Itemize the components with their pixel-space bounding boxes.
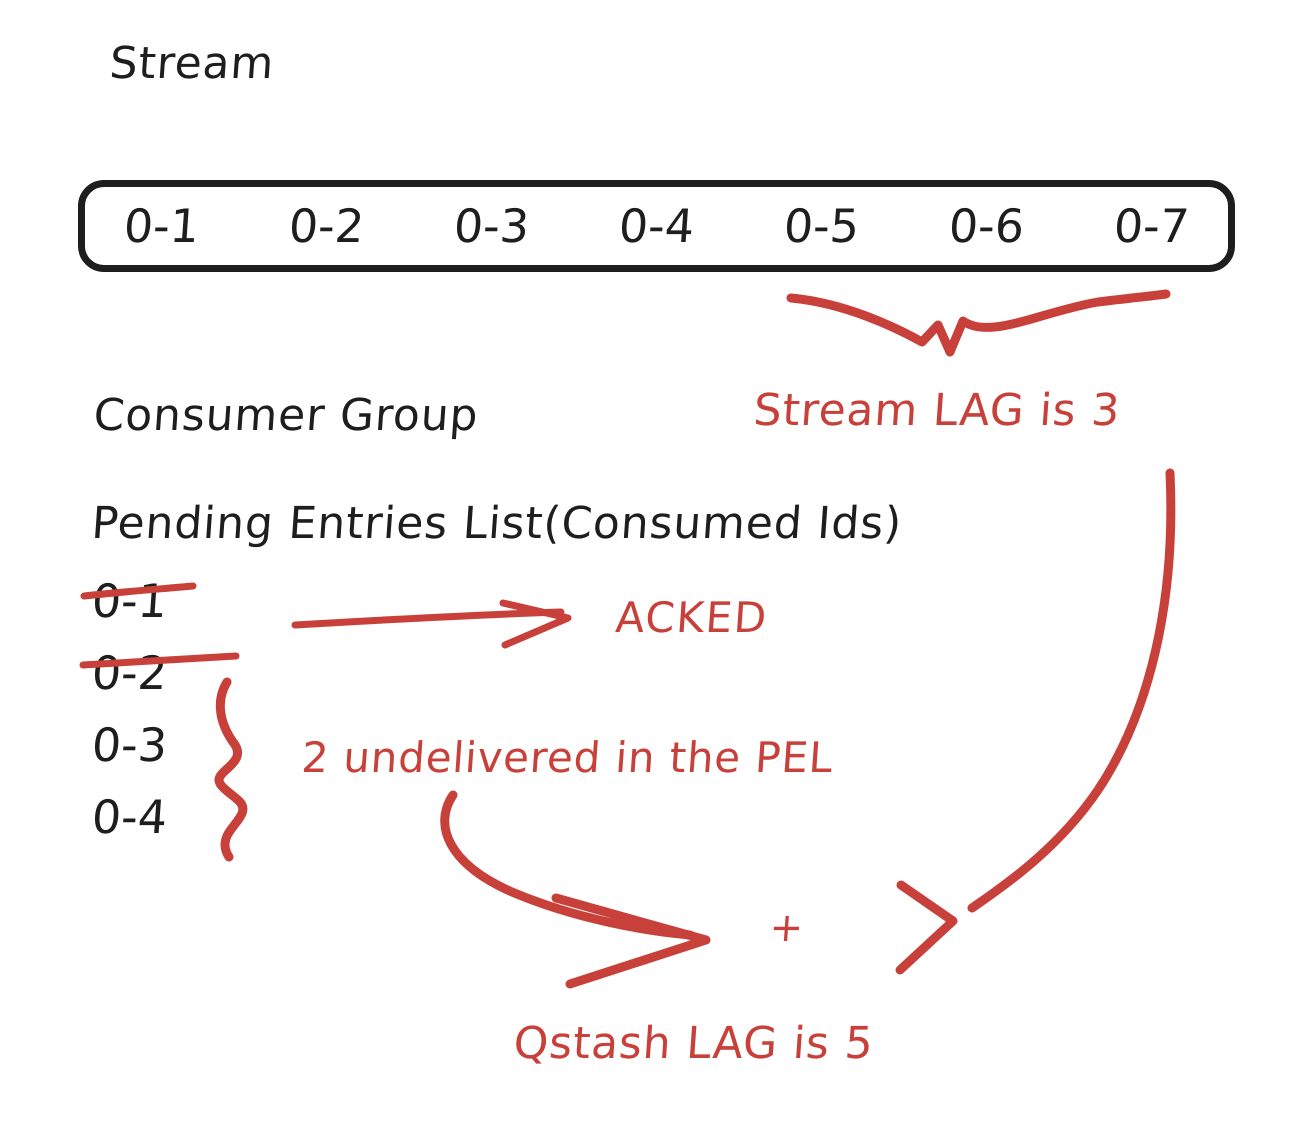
stream-entry-0-3: 0-3 xyxy=(452,199,531,253)
acked-annotation: ACKED xyxy=(614,593,770,642)
stream-lag-brace-icon xyxy=(791,294,1166,352)
stream-entries-row: 0-10-20-30-40-50-60-7 xyxy=(78,180,1235,272)
diagram-canvas: Stream 0-10-20-30-40-50-60-7 Consumer Gr… xyxy=(0,0,1294,1142)
stream-entry-0-6: 0-6 xyxy=(947,199,1026,253)
pel-entry-0-2-acked: 0-2 xyxy=(89,637,214,709)
pel-to-plus-arrowhead-icon xyxy=(556,898,706,984)
pel-entry-0-3-pending: 0-3 xyxy=(89,709,214,781)
stream-entry-0-5: 0-5 xyxy=(782,199,861,253)
stream-entry-0-1: 0-1 xyxy=(122,199,201,253)
pel-to-plus-arrow-icon xyxy=(445,795,690,935)
stream-lag-to-plus-arrow-icon xyxy=(972,473,1171,908)
stream-label: Stream xyxy=(108,38,276,89)
stream-lag-annotation: Stream LAG is 3 xyxy=(752,385,1122,436)
plus-operator: + xyxy=(768,905,806,951)
stream-lag-to-plus-arrowhead-icon xyxy=(900,885,953,970)
pending-entries-list-label: Pending Entries List(Consumed Ids) xyxy=(90,498,904,549)
stream-entry-0-2: 0-2 xyxy=(287,199,366,253)
pel-entry-0-1-acked: 0-1 xyxy=(89,565,214,637)
acked-arrow-icon xyxy=(295,612,561,625)
consumer-group-label: Consumer Group xyxy=(92,390,480,441)
stream-entry-0-7: 0-7 xyxy=(1112,199,1191,253)
acked-arrowhead-icon xyxy=(503,603,568,645)
stream-entry-0-4: 0-4 xyxy=(617,199,696,253)
pel-brace-icon xyxy=(219,682,243,857)
undelivered-annotation: 2 undelivered in the PEL xyxy=(300,733,835,782)
qstash-lag-annotation: Qstash LAG is 5 xyxy=(512,1018,875,1069)
pending-entries-list: 0-10-20-30-4 xyxy=(92,565,212,853)
pel-entry-0-4-pending: 0-4 xyxy=(89,781,214,853)
